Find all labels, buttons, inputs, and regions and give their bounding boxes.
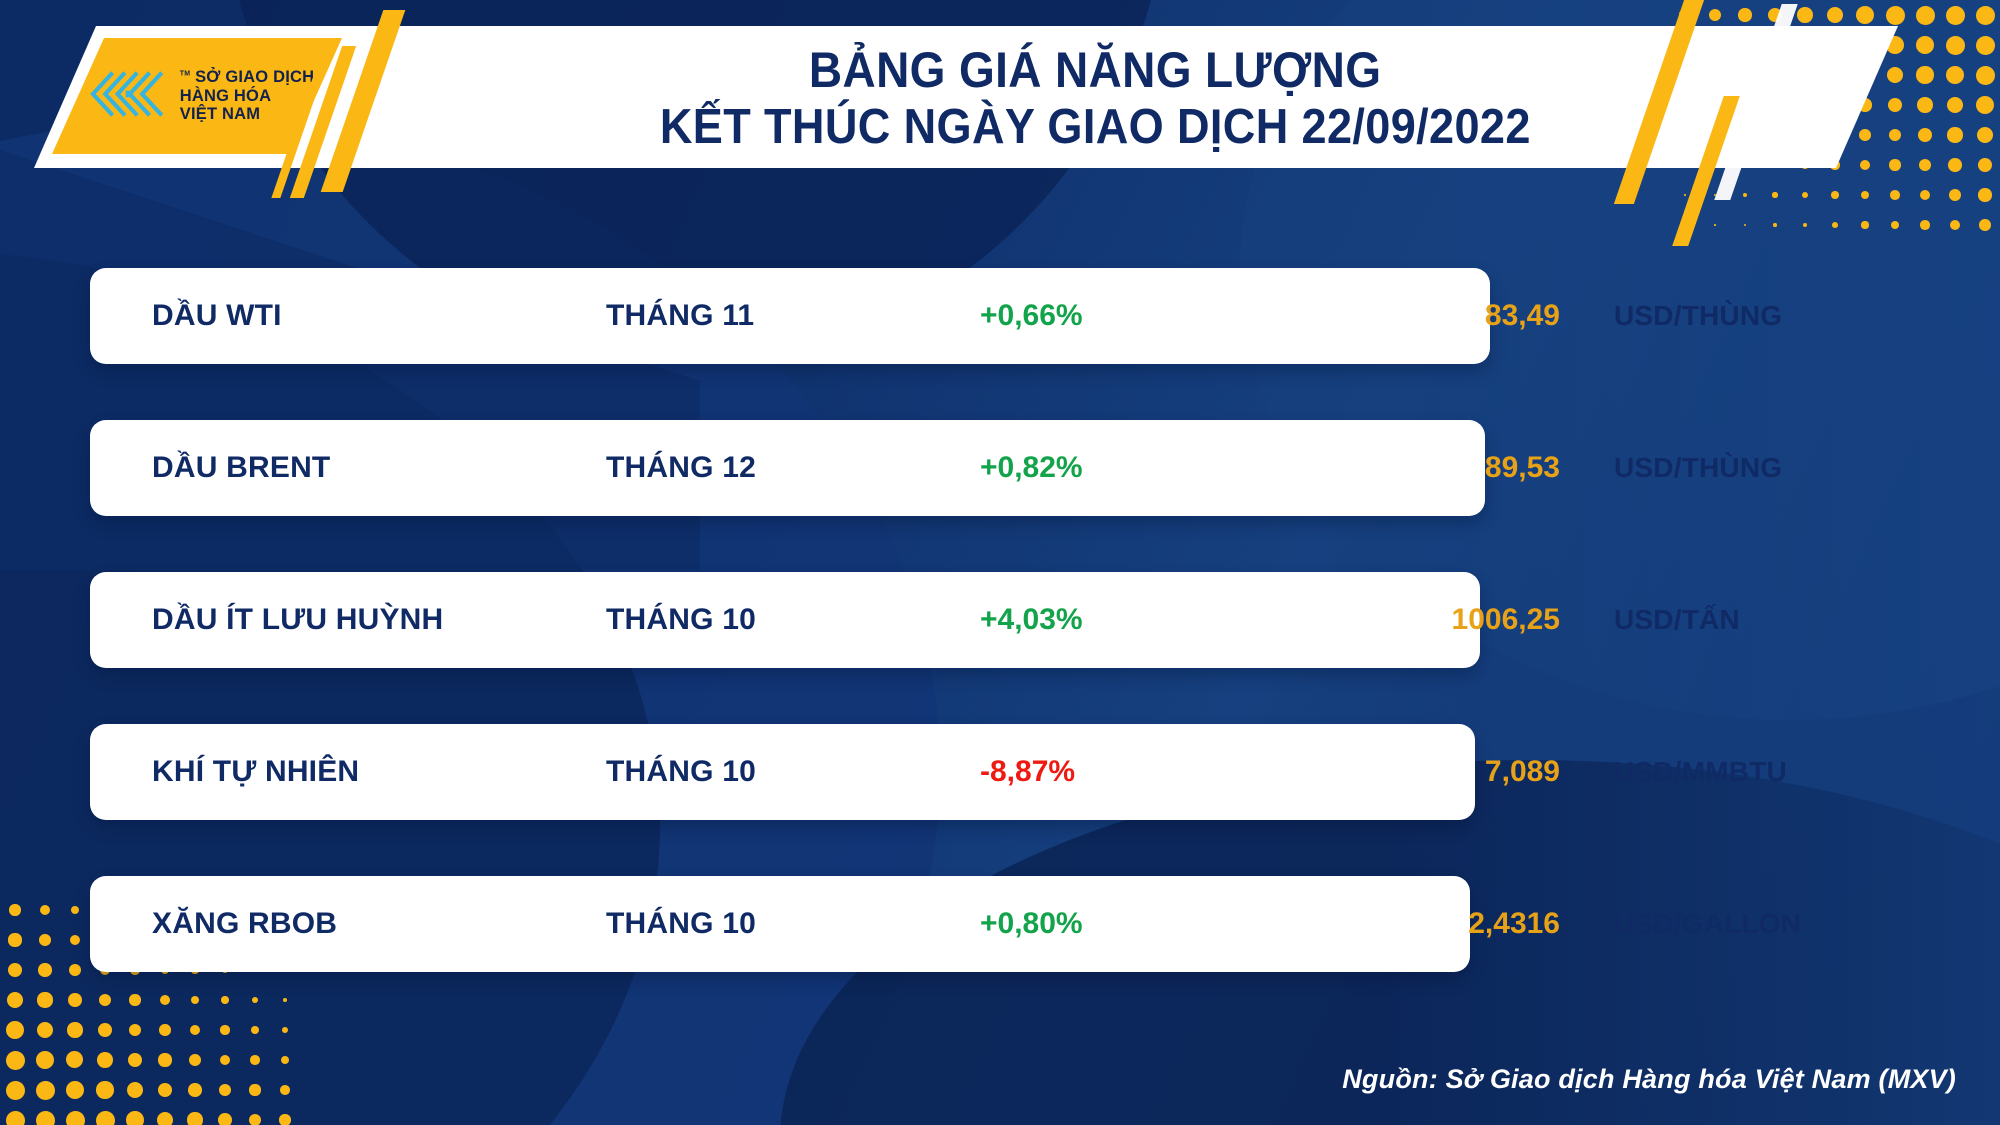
mxv-logo-line2: HÀNG HÓA [180, 87, 271, 105]
commodity-name: DẦU WTI [152, 299, 282, 333]
commodity-name: XĂNG RBOB [152, 907, 337, 941]
price-value: 89,53 [1270, 451, 1560, 485]
price-unit: USD/THÙNG [1614, 300, 1782, 332]
mxv-logo-line1: SỞ GIAO DỊCH [195, 68, 314, 86]
price-unit: USD/TẤN [1614, 604, 1740, 636]
trademark-mark: TM [180, 71, 191, 78]
mxv-logo-text: TM SỞ GIAO DỊCH HÀNG HÓA VIỆT NAM [180, 68, 314, 124]
price-value: 83,49 [1270, 299, 1560, 333]
price-value: 7,089 [1270, 755, 1560, 789]
change-percent: -8,87% [980, 755, 1200, 789]
contract-month: THÁNG 10 [606, 907, 866, 941]
contract-month: THÁNG 10 [606, 603, 866, 637]
price-unit: USD/THÙNG [1614, 452, 1782, 484]
title-line-1: BẢNG GIÁ NĂNG LƯỢNG [809, 42, 1381, 98]
commodity-name: DẦU BRENT [152, 451, 330, 485]
change-percent: +0,82% [980, 451, 1200, 485]
change-percent: +0,66% [980, 299, 1200, 333]
price-board-poster: TM SỞ GIAO DỊCH HÀNG HÓA VIỆT NAM BẢNG G… [0, 0, 2000, 1125]
table-row[interactable]: DẦU ÍT LƯU HUỲNHTHÁNG 10+4,03%1006,25USD… [90, 572, 1480, 668]
change-percent: +0,80% [980, 907, 1200, 941]
contract-month: THÁNG 11 [606, 299, 866, 333]
page-title: BẢNG GIÁ NĂNG LƯỢNG KẾT THÚC NGÀY GIAO D… [430, 36, 1760, 160]
price-table: DẦU WTITHÁNG 11+0,66%83,49USD/THÙNGDẦU B… [0, 268, 2000, 1028]
commodity-name: KHÍ TỰ NHIÊN [152, 755, 359, 789]
mxv-maze-logo-icon [88, 67, 170, 126]
source-attribution: Nguồn: Sở Giao dịch Hàng hóa Việt Nam (M… [1342, 1064, 1956, 1095]
price-value: 2,4316 [1270, 907, 1560, 941]
contract-month: THÁNG 12 [606, 451, 866, 485]
price-value: 1006,25 [1270, 603, 1560, 637]
change-percent: +4,03% [980, 603, 1200, 637]
table-row[interactable]: KHÍ TỰ NHIÊNTHÁNG 10-8,87%7,089USD/MMBTU [90, 724, 1475, 820]
table-row[interactable]: XĂNG RBOBTHÁNG 10+0,80%2,4316USD/GALLON [90, 876, 1470, 972]
table-row[interactable]: DẦU BRENTTHÁNG 12+0,82%89,53USD/THÙNG [90, 420, 1485, 516]
price-unit: USD/GALLON [1614, 908, 1801, 940]
commodity-name: DẦU ÍT LƯU HUỲNH [152, 603, 443, 637]
table-row[interactable]: DẦU WTITHÁNG 11+0,66%83,49USD/THÙNG [90, 268, 1490, 364]
mxv-logo-line3: VIỆT NAM [180, 105, 260, 123]
title-line-2: KẾT THÚC NGÀY GIAO DỊCH 22/09/2022 [660, 100, 1531, 155]
price-unit: USD/MMBTU [1614, 756, 1787, 788]
contract-month: THÁNG 10 [606, 755, 866, 789]
